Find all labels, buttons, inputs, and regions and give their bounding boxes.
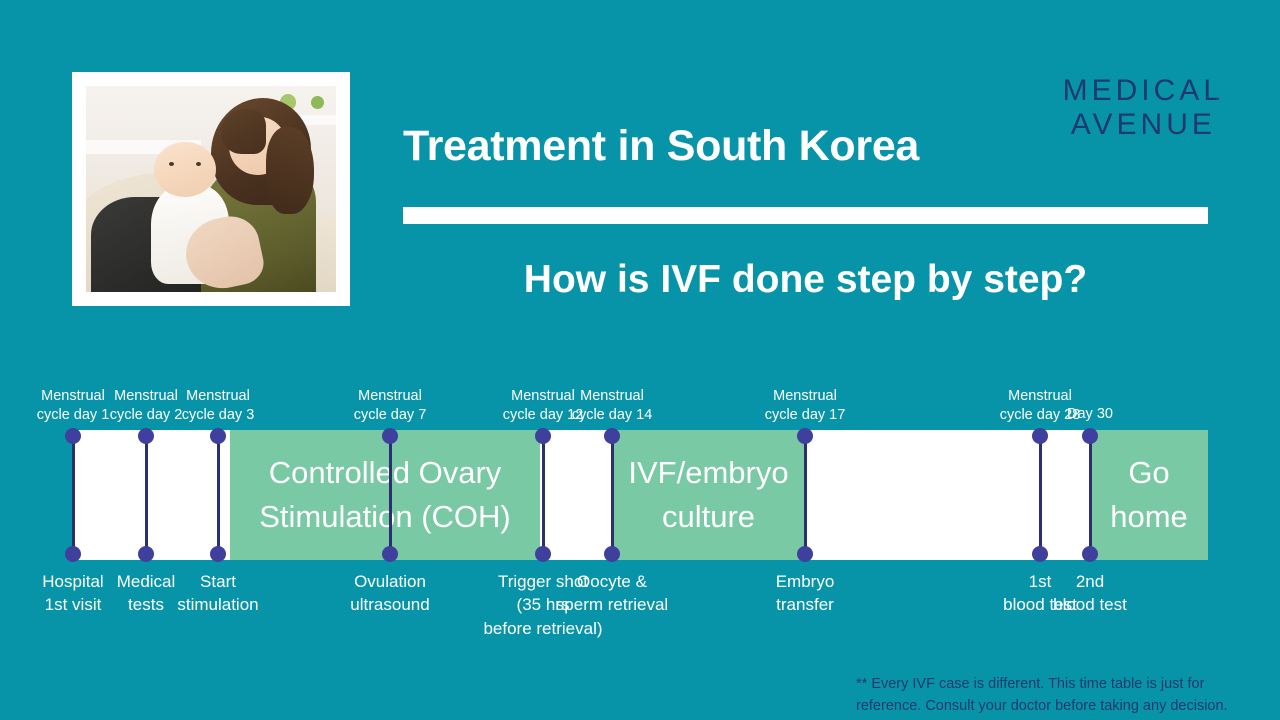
marker-stem <box>389 436 392 554</box>
marker-stem <box>217 436 220 554</box>
marker-dot-bottom <box>1082 546 1098 562</box>
marker-stem <box>542 436 545 554</box>
marker-dot-top <box>797 428 813 444</box>
timeline-bottom-label-5: Oocyte & sperm retrieval <box>542 570 682 617</box>
marker-stem <box>72 436 75 554</box>
marker-stem <box>1089 436 1092 554</box>
photo-frame <box>72 72 350 306</box>
mother-baby-photo <box>86 86 336 292</box>
timeline-top-label-6: Menstrual cycle day 17 <box>758 387 852 426</box>
photo-mother-hair-front <box>221 109 266 154</box>
marker-stem <box>145 436 148 554</box>
marker-dot-bottom <box>65 546 81 562</box>
marker-dot-top <box>65 428 81 444</box>
marker-dot-top <box>382 428 398 444</box>
timeline-bottom-label-8: 2nd blood test <box>1041 570 1139 617</box>
timeline-top-label-8: Day 30 <box>1057 405 1123 424</box>
title-divider <box>403 207 1208 224</box>
marker-dot-top <box>604 428 620 444</box>
timeline-phase-5: Go home <box>1090 430 1208 560</box>
timeline-phase-1: Controlled Ovary Stimulation (COH) <box>230 430 540 560</box>
photo-baby-head <box>154 142 217 198</box>
marker-stem <box>611 436 614 554</box>
marker-dot-bottom <box>210 546 226 562</box>
disclaimer-note: ** Every IVF case is different. This tim… <box>856 674 1266 718</box>
brand-line-2: AVENUE <box>1063 108 1224 142</box>
marker-dot-bottom <box>382 546 398 562</box>
brand-logo: MEDICAL AVENUE <box>1063 74 1224 141</box>
ivf-timeline: Controlled Ovary Stimulation (COH)IVF/em… <box>73 430 1208 560</box>
timeline-bottom-label-3: Ovulation ultrasound <box>331 570 449 617</box>
marker-dot-bottom <box>604 546 620 562</box>
marker-dot-bottom <box>797 546 813 562</box>
timeline-top-label-2: Menstrual cycle day 3 <box>173 387 263 426</box>
page-subtitle: How is IVF done step by step? <box>403 258 1208 302</box>
photo-baby-eye-left <box>169 162 174 166</box>
marker-dot-bottom <box>535 546 551 562</box>
photo-plant-small-icon <box>311 96 324 109</box>
timeline-phase-3: IVF/embryo culture <box>612 430 805 560</box>
timeline-top-label-5: Menstrual cycle day 14 <box>565 387 659 426</box>
marker-dot-bottom <box>1032 546 1048 562</box>
marker-stem <box>804 436 807 554</box>
marker-stem <box>1039 436 1042 554</box>
marker-dot-top <box>138 428 154 444</box>
timeline-bottom-label-6: Embryo transfer <box>755 570 855 617</box>
marker-dot-top <box>535 428 551 444</box>
marker-dot-top <box>1032 428 1048 444</box>
timeline-bottom-label-2: Start stimulation <box>159 570 277 617</box>
marker-dot-bottom <box>138 546 154 562</box>
marker-dot-top <box>1082 428 1098 444</box>
marker-dot-top <box>210 428 226 444</box>
brand-line-1: MEDICAL <box>1063 74 1224 108</box>
photo-mother-hair-side <box>266 127 314 214</box>
slide-canvas: MEDICAL AVENUE Treatment in South Korea … <box>0 0 1280 720</box>
page-title: Treatment in South Korea <box>403 122 919 171</box>
timeline-top-label-3: Menstrual cycle day 7 <box>345 387 435 426</box>
